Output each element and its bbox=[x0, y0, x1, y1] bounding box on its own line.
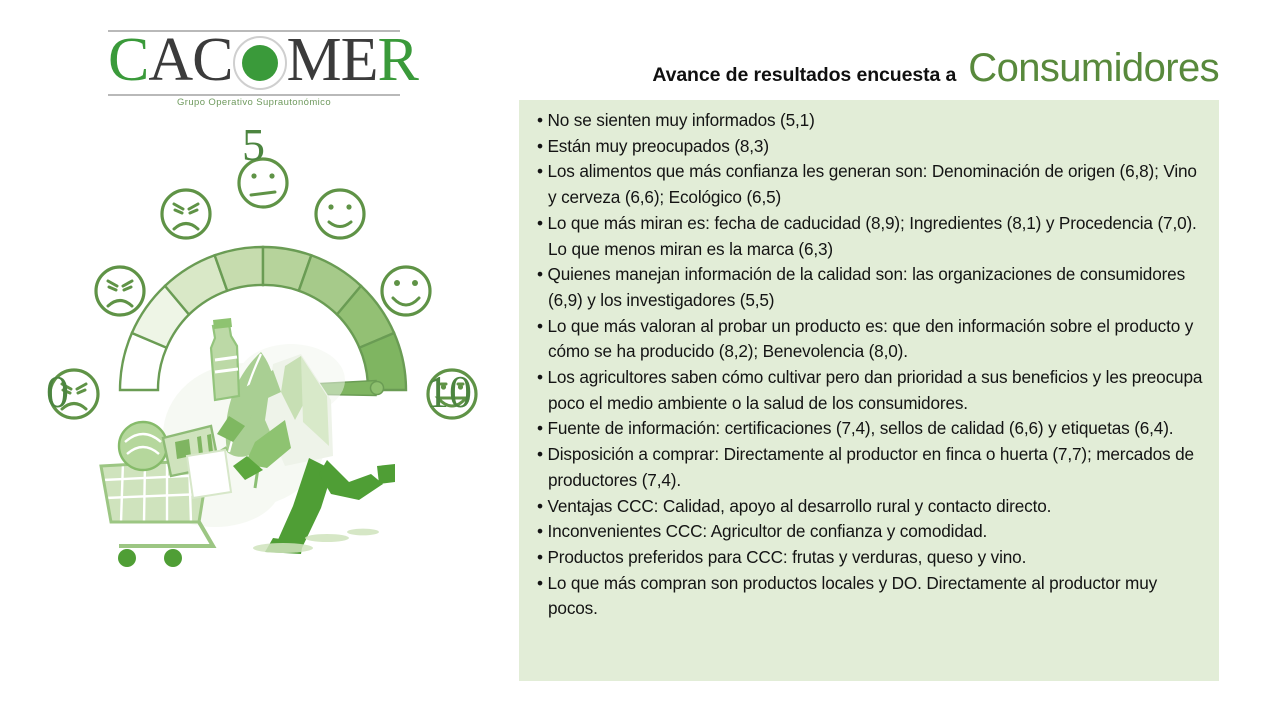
logo-tagline: Grupo Operativo Suprautonómico bbox=[108, 97, 400, 108]
bottle-icon bbox=[211, 318, 239, 400]
list-item: • Quienes manejan información de la cali… bbox=[537, 262, 1203, 313]
list-item: • Están muy preocupados (8,3) bbox=[537, 134, 1203, 160]
face-icon-slight-smile bbox=[316, 190, 364, 238]
title-main: Consumidores bbox=[968, 48, 1219, 88]
gauge-label-min: 0 bbox=[46, 369, 69, 415]
list-item: • Ventajas CCC: Calidad, apoyo al desarr… bbox=[537, 494, 1203, 520]
lettuce-icon bbox=[119, 422, 167, 470]
list-item: • Lo que más miran es: fecha de caducida… bbox=[537, 211, 1203, 262]
list-item: • Fuente de información: certificaciones… bbox=[537, 416, 1203, 442]
cacomer-logo: CACMER Grupo Operativo Suprautonómico bbox=[108, 18, 400, 110]
gauge-label-mid: 5 bbox=[242, 122, 265, 168]
list-item: • Disposición a comprar: Directamente al… bbox=[537, 442, 1203, 493]
gauge-label-max: 10 bbox=[426, 369, 472, 415]
cart-wheel-right bbox=[164, 549, 182, 567]
results-panel: • No se sienten muy informados (5,1) • E… bbox=[519, 100, 1219, 681]
list-item: • Lo que más compran son productos local… bbox=[537, 571, 1203, 622]
logo-o-circle-icon bbox=[233, 36, 287, 90]
logo-wordmark: CACMER bbox=[108, 27, 400, 93]
left-column: CACMER Grupo Operativo Suprautonómico bbox=[0, 0, 512, 720]
face-icon-angry-2 bbox=[162, 190, 210, 238]
list-item: • Lo que más valoran al probar un produc… bbox=[537, 314, 1203, 365]
list-item: • Los agricultores saben cómo cultivar p… bbox=[537, 365, 1203, 416]
shopper-illustration bbox=[95, 270, 405, 570]
shopper-svg bbox=[95, 270, 405, 570]
slide: CACMER Grupo Operativo Suprautonómico bbox=[0, 0, 1280, 720]
cart-wheel-left bbox=[118, 549, 136, 567]
list-item: • Productos preferidos para CCC: frutas … bbox=[537, 545, 1203, 571]
shopping-cart-icon bbox=[101, 422, 231, 567]
list-item: • Inconvenientes CCC: Agricultor de conf… bbox=[537, 519, 1203, 545]
title-prefix: Avance de resultados encuesta a bbox=[652, 64, 956, 87]
list-item: • No se sienten muy informados (5,1) bbox=[537, 108, 1203, 134]
results-bullet-list: • No se sienten muy informados (5,1) • E… bbox=[537, 108, 1203, 622]
slide-title: Avance de resultados encuesta a Consumid… bbox=[519, 48, 1219, 98]
logo-rule-bottom bbox=[108, 94, 400, 96]
list-item: • Los alimentos que más confianza les ge… bbox=[537, 159, 1203, 210]
